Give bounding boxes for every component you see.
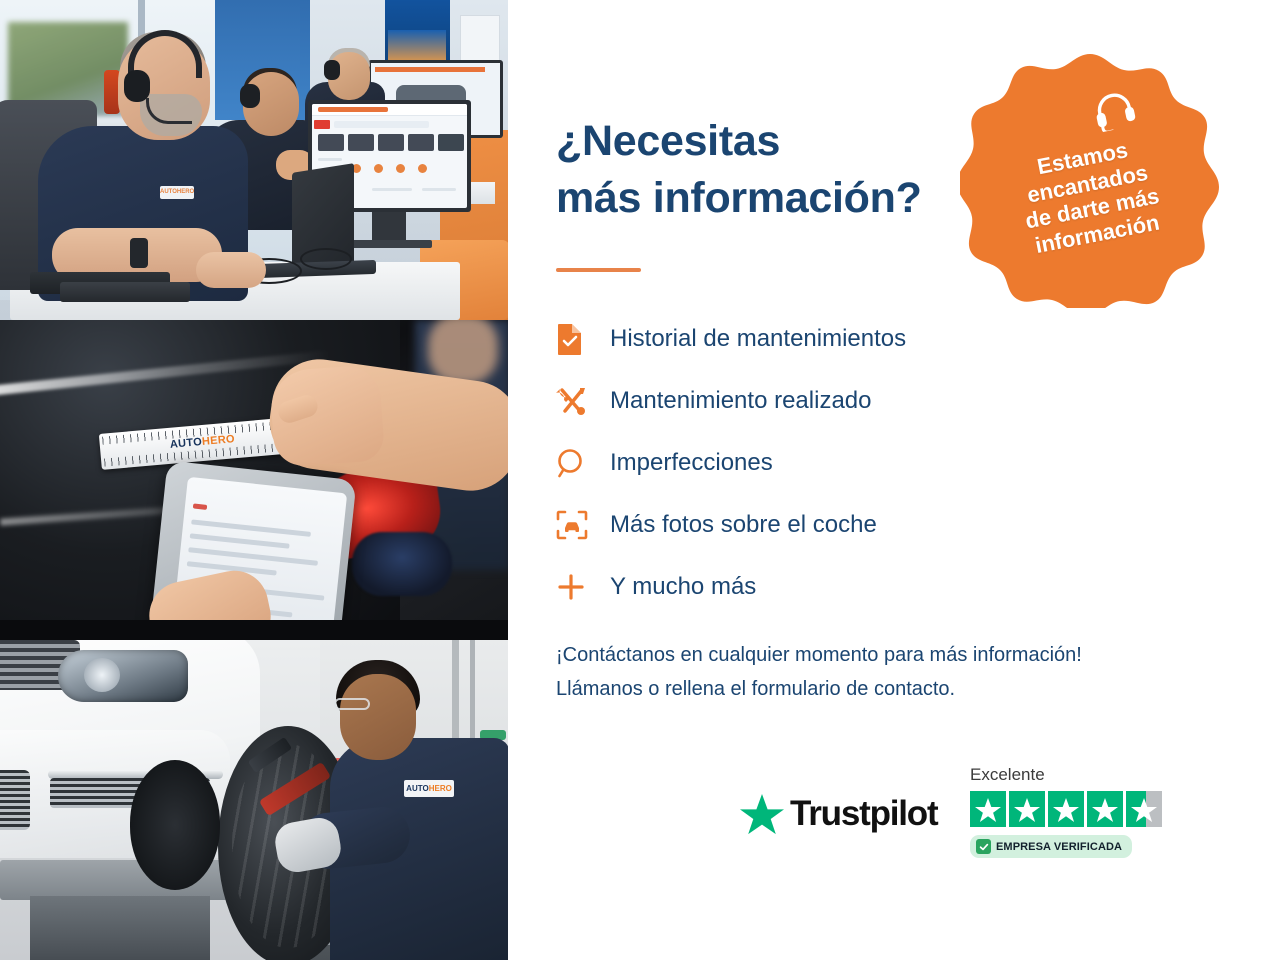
magnifier-icon	[556, 447, 610, 479]
trustpilot-logo[interactable]: Trustpilot	[740, 793, 937, 835]
safety-glasses	[334, 698, 370, 710]
trustpilot-star-icon	[740, 793, 784, 835]
call-center-agents-photo: AUTOHERO	[0, 0, 508, 320]
contact-paragraph: ¡Contáctanos en cualquier momento para m…	[556, 638, 1236, 707]
content-panel: ¿Necesitas más información? Estamos en	[508, 0, 1280, 960]
support-badge: Estamos encantados de darte más informac…	[960, 48, 1220, 308]
uniform-logo-a: AUTO	[406, 784, 429, 793]
star-half-filled	[1126, 791, 1162, 827]
plus-icon	[556, 572, 610, 602]
trustpilot-wordmark: Trustpilot	[790, 794, 937, 834]
rear-reflection	[352, 532, 452, 596]
title-underline-accent	[556, 268, 641, 272]
cable	[300, 248, 352, 270]
feature-item-maintenance-done: Mantenimiento realizado	[556, 370, 1026, 432]
star-filled	[1048, 791, 1084, 827]
feature-item-maintenance-history: Historial de mantenimientos	[556, 308, 1026, 370]
feature-label: Imperfecciones	[610, 449, 773, 477]
ruler-brand-b: HERO	[201, 433, 235, 448]
tools-wrench-screwdriver-icon	[556, 385, 610, 417]
wheel-hub	[130, 760, 220, 890]
feature-list: Historial de mantenimientos Mantenimient…	[556, 308, 1026, 618]
feature-label: Más fotos sobre el coche	[610, 511, 877, 539]
feature-item-much-more: Y mucho más	[556, 556, 1026, 618]
uniform-logo: AUTOHERO	[160, 186, 194, 199]
badge-text: Estamos encantados de darte más informac…	[960, 48, 1220, 308]
background-person-head	[428, 320, 498, 384]
feature-label: Y mucho más	[610, 573, 756, 601]
feature-label: Historial de mantenimientos	[610, 325, 906, 353]
uniform-logo-b: HERO	[429, 784, 452, 793]
bumper-vent	[0, 770, 30, 830]
car-lift-post	[30, 896, 210, 960]
photo-column: AUTOHERO AUTOHERO	[0, 0, 508, 960]
desk-tablet	[60, 282, 190, 302]
agent-2-headset	[240, 84, 260, 108]
ruler-brand-a: AUTO	[169, 436, 202, 451]
feature-item-more-photos: Más fotos sobre el coche	[556, 494, 1026, 556]
check-icon	[976, 839, 991, 854]
monitor-base	[348, 240, 432, 248]
star-filled	[1087, 791, 1123, 827]
page-title: ¿Necesitas más información?	[556, 113, 922, 227]
headline-line-2: más información?	[556, 174, 922, 222]
wall-poster-image	[388, 30, 446, 60]
car-inspection-ruler-photo: AUTOHERO	[0, 320, 508, 640]
trustpilot-rating: Excelente	[970, 765, 1162, 858]
feature-label: Mantenimiento realizado	[610, 387, 871, 415]
star-filled	[1009, 791, 1045, 827]
uniform-logo: AUTOHERO	[404, 780, 454, 797]
rating-label: Excelente	[970, 765, 1162, 785]
trustpilot-block: Trustpilot Excelente	[740, 765, 1160, 880]
photo-floor-shadow	[0, 620, 508, 640]
car-viewfinder-icon	[556, 510, 610, 540]
technician-head	[340, 674, 416, 760]
car-headlight	[58, 650, 188, 702]
verified-label: EMPRESA VERIFICADA	[996, 841, 1122, 853]
agent-1-hand	[196, 252, 266, 288]
agent-3-headset	[324, 60, 340, 80]
document-check-icon	[556, 323, 610, 355]
workshop-wheel-change-photo: AUTOHERO	[0, 640, 508, 960]
contact-line-2: Llámanos o rellena el formulario de cont…	[556, 678, 955, 700]
star-rating	[970, 791, 1162, 827]
promo-page: AUTOHERO AUTOHERO	[0, 0, 1280, 960]
wristwatch	[130, 238, 148, 268]
headline-line-1: ¿Necesitas	[556, 117, 780, 165]
contact-line-1: ¡Contáctanos en cualquier momento para m…	[556, 644, 1082, 666]
verified-company-badge: EMPRESA VERIFICADA	[970, 835, 1132, 858]
star-filled	[970, 791, 1006, 827]
feature-item-imperfections: Imperfecciones	[556, 432, 1026, 494]
